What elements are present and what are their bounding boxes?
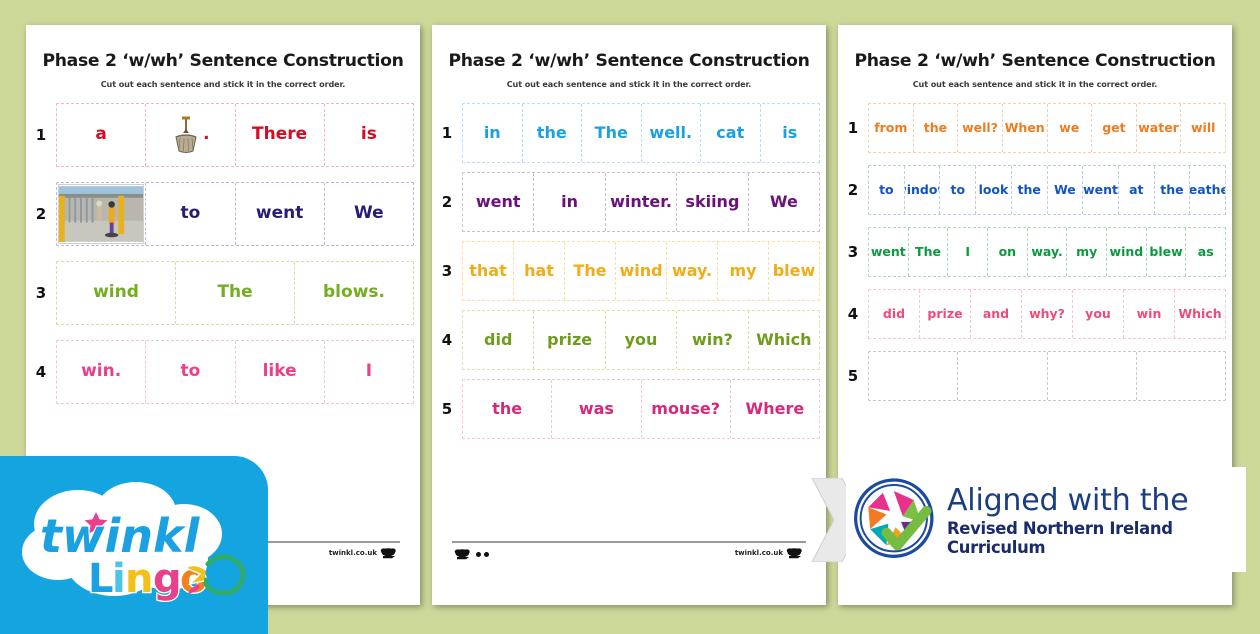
word-card-strip[interactable]: thathatThewindway.myblew [462,241,820,301]
worksheet-sheet-2[interactable]: Phase 2 ‘w/wh’ Sentence Construction Cut… [432,25,826,605]
footer-right: twinkl.co.uk [735,547,804,559]
worksheet-preview-stage: Phase 2 ‘w/wh’ Sentence Construction Cut… [0,0,1260,630]
word-card[interactable]: The [582,104,642,162]
row-number: 4 [838,305,868,323]
word-card-strip[interactable]: intheThewell.catis [462,103,820,163]
word-card[interactable]: blew [769,242,819,300]
word-card-strip[interactable]: win.tolikeI [56,340,414,404]
word-card[interactable]: I [948,228,988,276]
word-card[interactable]: went [463,173,534,231]
sentence-row: 2towindowtolooktheWewentattheweather. [838,165,1232,215]
sentence-row: 1intheThewell.catis [432,103,826,163]
page-subtitle: Cut out each sentence and stick it in th… [26,79,420,89]
word-card-punctuation: . [203,126,209,144]
word-card[interactable]: that [463,242,514,300]
sentence-rows: 1intheThewell.catis2wentinwinter.skiingW… [432,103,826,439]
word-card[interactable]: way. [667,242,718,300]
word-card[interactable]: in [534,173,605,231]
word-card[interactable] [1048,352,1137,400]
word-card[interactable]: look [976,166,1012,214]
word-card[interactable]: to [869,166,905,214]
word-card[interactable]: did [869,290,920,338]
word-card[interactable]: blew [1147,228,1187,276]
page-dots [476,552,489,557]
word-card-strip[interactable]: didprizeandwhy?youwinWhich [868,289,1226,339]
footer-right: twinkl.co.uk [329,547,398,559]
word-card[interactable]: my [718,242,769,300]
word-card[interactable]: When [1003,104,1048,152]
word-card[interactable]: We [325,183,413,245]
page-subtitle: Cut out each sentence and stick it in th… [838,79,1232,89]
sentence-rows: 1a .Thereis2 towentWe3windThe [26,103,420,404]
svg-text:twinkl: twinkl [40,509,201,563]
word-card[interactable]: did [463,311,534,369]
word-card[interactable]: was [552,380,641,438]
word-card[interactable]: We [749,173,819,231]
word-card[interactable]: a [57,104,146,166]
word-card[interactable]: prize [534,311,605,369]
word-card[interactable]: get [1092,104,1137,152]
word-card[interactable]: wind [1107,228,1147,276]
word-card[interactable]: the [1155,166,1191,214]
word-card[interactable]: wind [57,262,176,324]
word-card[interactable]: prize [920,290,971,338]
word-card[interactable]: way. [1028,228,1068,276]
sentence-row: 3wentTheIonway.mywindblewas [838,227,1232,277]
word-card[interactable]: win [1124,290,1175,338]
wishing-well-image [171,115,201,155]
word-card[interactable]: well. [642,104,702,162]
word-card-strip[interactable]: windTheblows. [56,261,414,325]
word-card[interactable]: is [325,104,413,166]
sentence-row: 5thewasmouse?Where [432,379,826,439]
aligned-line-2: Revised Northern Ireland Curriculum [947,519,1246,557]
sentence-row: 2wentinwinter.skiingWe [432,172,826,232]
word-card[interactable]: winter. [606,173,677,231]
word-card[interactable]: Which [1175,290,1225,338]
row-number: 4 [432,331,462,349]
row-number: 2 [26,205,56,223]
word-card[interactable]: win? [677,311,748,369]
sentence-row: 5 [838,351,1232,401]
word-card[interactable]: skiing [677,173,748,231]
word-card[interactable]: mouse? [642,380,731,438]
sentence-row: 2 towentWe [26,182,420,246]
word-card-strip[interactable]: wentinwinter.skiingWe [462,172,820,232]
twinkl-lingo-wordmark: twinkl L i n g o [0,456,268,634]
word-card[interactable]: well? [958,104,1003,152]
word-card[interactable]: to [146,183,235,245]
word-card-strip[interactable] [868,351,1226,401]
page-title: Phase 2 ‘w/wh’ Sentence Construction [838,51,1232,71]
page-subtitle: Cut out each sentence and stick it in th… [432,79,826,89]
word-card[interactable]: The [176,262,295,324]
word-card[interactable]: to [940,166,976,214]
row-number: 4 [26,363,56,381]
word-card[interactable]: We [1048,166,1084,214]
row-number: 1 [432,124,462,142]
aligned-text-block: Aligned with the Revised Northern Irelan… [947,483,1246,557]
sentence-row: 1a .Thereis [26,103,420,167]
svg-text:g: g [153,556,182,602]
row-number: 2 [432,193,462,211]
word-card[interactable]: water [1137,104,1182,152]
word-card[interactable]: the [463,380,552,438]
sentence-row: 4win.tolikeI [26,340,420,404]
word-card[interactable]: weather. [1190,166,1225,214]
word-card[interactable]: window [905,166,941,214]
word-card[interactable]: why? [1022,290,1073,338]
word-card[interactable]: we [1048,104,1093,152]
svg-text:L: L [88,556,114,602]
word-card[interactable]: cat [701,104,761,162]
word-card[interactable]: you [1073,290,1124,338]
word-card-strip[interactable]: towindowtolooktheWewentattheweather. [868,165,1226,215]
footer-left [454,548,489,560]
word-card[interactable] [869,352,958,400]
twinkl-logo-icon [380,547,398,559]
word-card-strip[interactable]: towentWe [56,182,414,246]
word-card-strip[interactable]: fromthewell?Whenwegetwaterwill [868,103,1226,153]
skiing-photo [58,184,144,244]
word-card[interactable]: on [988,228,1028,276]
row-number: 3 [26,284,56,302]
sentence-row: 3windTheblows. [26,261,420,325]
word-card[interactable]: the [523,104,583,162]
word-card[interactable]: win. [57,341,146,403]
sentence-row: 4didprizeyouwin?Which [432,310,826,370]
word-card[interactable]: the [914,104,959,152]
word-card[interactable] [57,183,146,245]
word-card[interactable] [958,352,1047,400]
word-card[interactable]: . [146,104,235,166]
word-card[interactable]: at [1119,166,1155,214]
twinkl-logo-icon [786,547,804,559]
word-card[interactable]: The [909,228,949,276]
word-card[interactable]: from [869,104,914,152]
word-card[interactable]: blows. [295,262,413,324]
twinkl-lingo-logo[interactable]: twinkl L i n g o [0,456,268,634]
row-number: 2 [838,181,868,199]
word-card[interactable]: Which [749,311,819,369]
word-card[interactable]: hat [514,242,565,300]
svg-text:n: n [125,556,153,602]
word-card[interactable]: you [606,311,677,369]
word-card[interactable]: Where [731,380,819,438]
aligned-with-curriculum-badge[interactable]: Aligned with the Revised Northern Irelan… [846,467,1246,572]
word-card[interactable]: wind [616,242,667,300]
word-card[interactable]: I [325,341,413,403]
curriculum-pinwheel-icon [852,472,941,568]
row-number: 1 [26,126,56,144]
aligned-line-1: Aligned with the [947,483,1246,518]
word-card[interactable]: and [971,290,1022,338]
word-card[interactable]: will [1181,104,1225,152]
sentence-row: 1fromthewell?Whenwegetwaterwill [838,103,1232,153]
svg-text:i: i [112,556,126,602]
word-card[interactable]: went [236,183,325,245]
row-number: 1 [838,119,868,137]
word-card[interactable]: went [1083,166,1119,214]
row-number: 3 [432,262,462,280]
sheet-footer: twinkl.co.uk [452,541,806,569]
footer-label: twinkl.co.uk [735,549,783,557]
page-title: Phase 2 ‘w/wh’ Sentence Construction [26,51,420,71]
page-title: Phase 2 ‘w/wh’ Sentence Construction [432,51,826,71]
sentence-rows: 1fromthewell?Whenwegetwaterwill2towindow… [838,103,1232,401]
word-card-strip[interactable]: wentTheIonway.mywindblewas [868,227,1226,277]
word-card-strip[interactable]: a .Thereis [56,103,414,167]
footer-label: twinkl.co.uk [329,549,377,557]
word-card[interactable]: to [146,341,235,403]
row-number: 5 [432,400,462,418]
row-number: 5 [838,367,868,385]
sentence-row: 4didprizeandwhy?youwinWhich [838,289,1232,339]
word-card[interactable] [1137,352,1225,400]
word-card[interactable]: There [236,104,325,166]
word-card-strip[interactable]: didprizeyouwin?Which [462,310,820,370]
word-card[interactable]: went [869,228,909,276]
word-card[interactable]: in [463,104,523,162]
sentence-row: 3thathatThewindway.myblew [432,241,826,301]
word-card[interactable]: as [1186,228,1225,276]
twinkl-logo-icon [454,548,472,560]
word-card[interactable]: my [1067,228,1107,276]
word-card[interactable]: the [1012,166,1048,214]
word-card[interactable]: like [236,341,325,403]
row-number: 3 [838,243,868,261]
word-card-strip[interactable]: thewasmouse?Where [462,379,820,439]
word-card[interactable]: is [761,104,820,162]
word-card[interactable]: The [565,242,616,300]
